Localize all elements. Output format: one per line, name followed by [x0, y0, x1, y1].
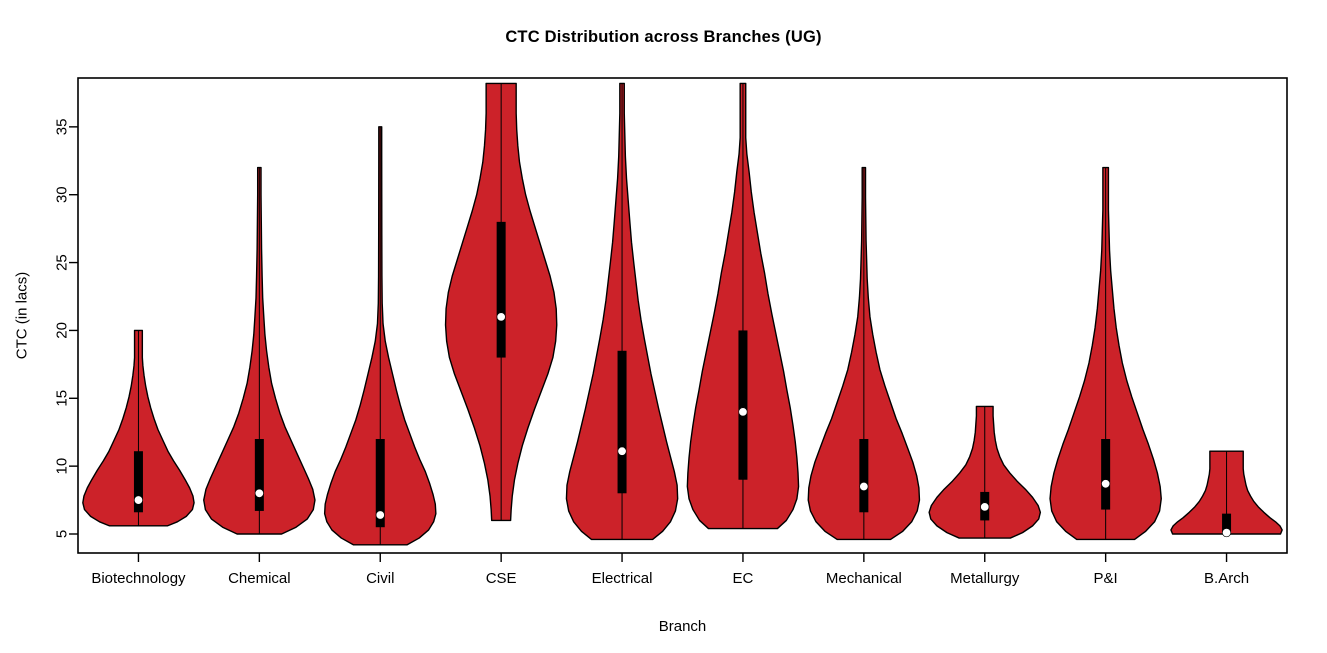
violin-biotechnology[interactable] [83, 330, 194, 525]
violin-plot-figure: CTC Distribution across Branches (UG) 51… [0, 0, 1327, 653]
iqr-box [859, 439, 868, 512]
median-marker [860, 482, 868, 490]
x-tick-label-chemical: Chemical [228, 570, 291, 587]
y-tick-label: 35 [54, 119, 71, 136]
violin-metallurgy[interactable] [929, 406, 1040, 538]
x-tick-label-civil: Civil [366, 570, 394, 587]
median-marker [134, 496, 142, 504]
y-tick-label: 10 [54, 458, 71, 475]
y-axis-title: CTC (in lacs) [14, 272, 31, 360]
violin-p-i[interactable] [1050, 168, 1161, 540]
median-marker [1222, 528, 1230, 536]
median-marker [497, 313, 505, 321]
violin-electrical[interactable] [566, 83, 677, 539]
violin-cse[interactable] [446, 83, 557, 520]
x-axis: BiotechnologyChemicalCivilCSEElectricalE… [91, 553, 1249, 587]
iqr-box [497, 222, 506, 358]
violin-civil[interactable] [325, 127, 436, 545]
violin-mechanical[interactable] [808, 168, 919, 540]
x-tick-label-mechanical: Mechanical [826, 570, 902, 587]
y-tick-label: 20 [54, 322, 71, 339]
violin-ec[interactable] [687, 83, 798, 528]
iqr-box [738, 330, 747, 479]
violins-group [83, 83, 1282, 544]
y-tick-label: 5 [54, 530, 71, 538]
median-marker [618, 447, 626, 455]
violin-chemical[interactable] [204, 168, 315, 534]
iqr-box [1101, 439, 1110, 510]
x-tick-label-metallurgy: Metallurgy [950, 570, 1020, 587]
median-marker [739, 408, 747, 416]
x-tick-label-cse: CSE [486, 570, 517, 587]
iqr-box [255, 439, 264, 511]
chart-canvas: 5101520253035CTC (in lacs)BiotechnologyC… [0, 0, 1327, 653]
y-tick-label: 25 [54, 254, 71, 271]
median-marker [376, 511, 384, 519]
x-tick-label-electrical: Electrical [592, 570, 653, 587]
x-axis-title: Branch [659, 618, 707, 635]
iqr-box [618, 351, 627, 494]
median-marker [981, 503, 989, 511]
x-tick-label-b-arch: B.Arch [1204, 570, 1249, 587]
median-marker [1101, 480, 1109, 488]
x-tick-label-ec: EC [733, 570, 754, 587]
y-axis: 5101520253035 [54, 119, 79, 539]
median-marker [255, 489, 263, 497]
x-tick-label-p-i: P&I [1094, 570, 1118, 587]
y-tick-label: 15 [54, 390, 71, 407]
y-tick-label: 30 [54, 186, 71, 203]
violin-b-arch[interactable] [1171, 451, 1282, 537]
x-tick-label-biotechnology: Biotechnology [91, 570, 186, 587]
